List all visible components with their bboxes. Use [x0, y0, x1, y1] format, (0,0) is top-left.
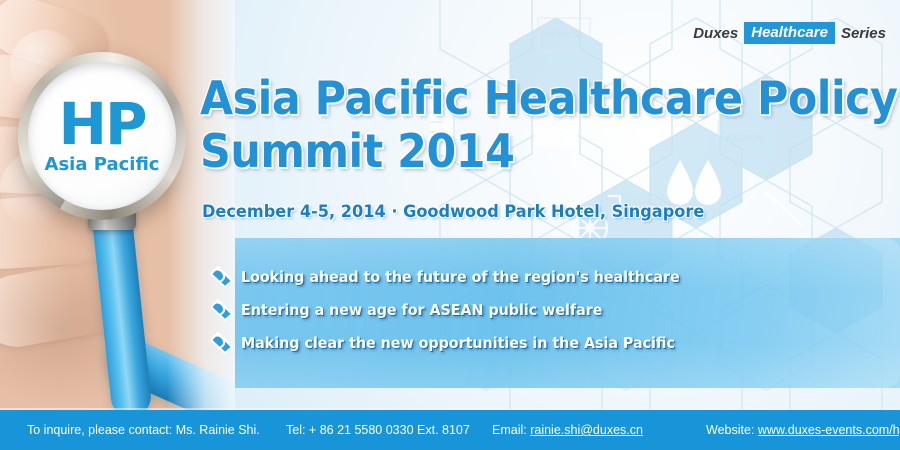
list-item-label: Entering a new age for ASEAN public welf…	[241, 301, 602, 319]
event-banner: MEDICAL MEDICAL	[0, 0, 900, 450]
footer-email-link[interactable]: rainie.shi@duxes.cn	[530, 423, 643, 437]
footer-website-label: Website:	[706, 423, 754, 437]
contact-footer: To inquire, please contact: Ms. Rainie S…	[0, 410, 900, 450]
tag-icon	[208, 332, 234, 354]
footer-contact-text: To inquire, please contact: Ms. Rainie S…	[27, 423, 260, 437]
series-pre: Duxes	[693, 25, 738, 42]
list-item-label: Looking ahead to the future of the regio…	[241, 268, 680, 286]
svg-text:MEDICAL: MEDICAL	[544, 31, 585, 41]
logo-mark: HP	[58, 97, 145, 152]
stethoscope-chestpiece: HP Asia Pacific	[18, 52, 186, 220]
series-post: Series	[841, 25, 886, 42]
stethoscope-photo: HP Asia Pacific	[0, 0, 235, 410]
duxes-healthcare-series-badge: Duxes Healthcare Series	[693, 22, 886, 44]
footer-email-label: Email:	[492, 423, 527, 437]
title-line-2: Summit 2014	[200, 125, 832, 178]
footer-website-link[interactable]: www.duxes-events.com/hpap	[758, 423, 900, 437]
list-item: Making clear the new opportunities in th…	[208, 328, 888, 358]
logo-subtitle: Asia Pacific	[45, 154, 160, 175]
tag-icon	[208, 299, 234, 321]
footer-telephone: Tel: + 86 21 5580 0330 Ext. 8107	[286, 423, 470, 437]
event-date-venue: December 4-5, 2014 · Goodwood Park Hotel…	[202, 202, 704, 222]
list-item: Entering a new age for ASEAN public welf…	[208, 295, 888, 325]
chestpiece-face: HP Asia Pacific	[28, 62, 176, 210]
footer-website: Website: www.duxes-events.com/hpap	[706, 423, 900, 437]
list-item: Looking ahead to the future of the regio…	[208, 262, 888, 292]
highlights-list: Looking ahead to the future of the regio…	[208, 262, 888, 361]
tag-icon	[208, 266, 234, 288]
hp-asia-pacific-logo: HP Asia Pacific	[28, 62, 176, 210]
footer-email: Email: rainie.shi@duxes.cn	[492, 423, 643, 437]
title-line-1: Asia Pacific Healthcare Policy	[200, 72, 832, 125]
page-title: Asia Pacific Healthcare Policy Summit 20…	[200, 72, 880, 178]
series-highlight: Healthcare	[744, 22, 835, 44]
list-item-label: Making clear the new opportunities in th…	[241, 334, 675, 352]
